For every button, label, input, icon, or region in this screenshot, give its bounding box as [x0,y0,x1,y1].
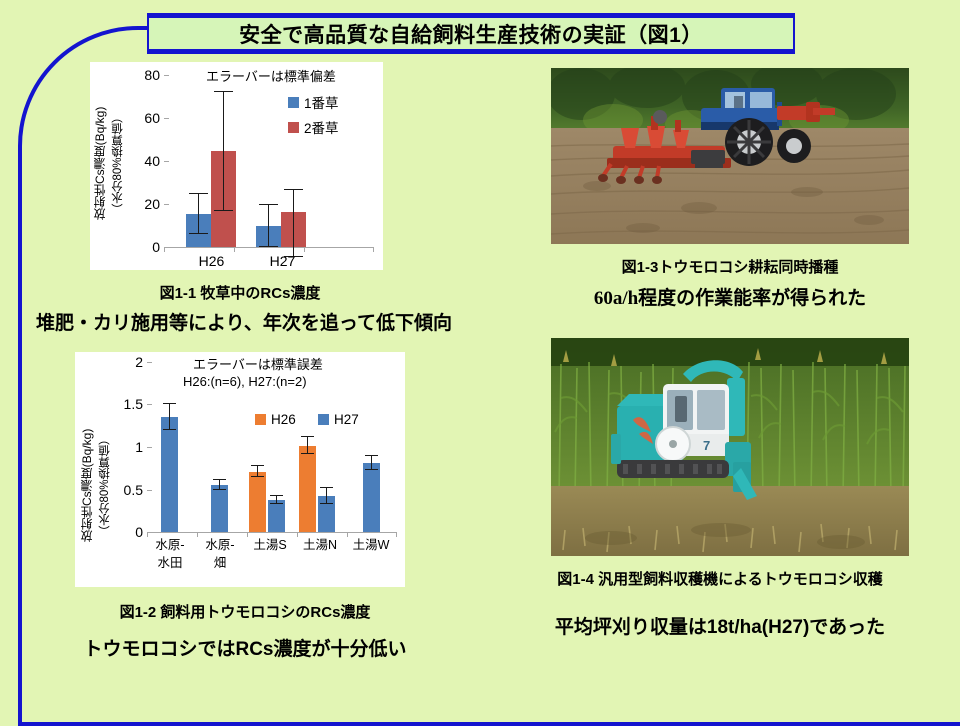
chart1-ytick-0: 0 [128,239,160,255]
chart2-errcap-top [270,495,283,496]
slide-canvas: 安全で高品質な自給飼料生産技術の実証（図1） 放射性Cs濃度(Bq/kg) （水… [0,0,960,694]
chart2-ylabel: 放射性Cs濃度(Bq/kg) [81,400,94,570]
chart2-xlabel-1a: 水原- [195,538,245,552]
forage-harvester-illustration: 7 [551,338,909,556]
chart1-errcap-top [259,204,278,205]
chart2-xlabel-3: 土湯N [295,538,345,552]
chart2-errcap-top [251,465,264,466]
chart1-legend-label-2: 2番草 [304,117,339,137]
chart1-tick-40 [164,161,169,162]
chart1-err-h26-1 [198,194,199,234]
chart2-bar-tsuchiyu-s-h27 [268,500,285,532]
legend-swatch-icon [318,414,329,425]
chart1-errcap-top [284,189,303,190]
chart2-legend-label-2: H27 [334,412,359,427]
chart-fig1-2: 放射性Cs濃度(Bq/kg) （水分80%換算値） 2 1.5 1 0.5 0 … [75,352,405,587]
chart2-bar-tsuchiyu-w-h27 [363,463,380,532]
fig1-4-caption: 図1-4 汎用型飼料収穫機によるトウモロコシ収穫 [500,568,940,589]
chart2-ytick-1: 1 [113,439,143,455]
legend-swatch-icon [255,414,266,425]
chart1-ytick-60: 60 [128,110,160,126]
chart1-err-h27-2 [293,190,294,257]
fig1-1-finding: 堆肥・カリ施用等により、年次を追って低下傾向 [14,308,474,335]
chart1-xlabel-h27: H27 [245,253,320,269]
fig1-4-photo: 7 [551,338,909,556]
chart2-bar-tsuchiyu-s-h26 [249,472,266,532]
chart1-errcap-top [189,193,208,194]
page-title: 安全で高品質な自給飼料生産技術の実証（図1） [147,13,795,54]
chart2-errcap-top [320,487,333,488]
chart-fig1-1: 放射性Cs濃度(Bq/kg) （水分80%換算値） 80 60 40 20 0 … [90,62,383,270]
chart2-bar-tsuchiyu-n-h26 [299,446,316,532]
page-title-text: 安全で高品質な自給飼料生産技術の実証（図1） [239,19,703,49]
chart2-errcap-bot [163,429,176,430]
chart2-annotation2: H26:(n=6), H27:(n=2) [183,374,307,389]
chart2-legend-h27: H27 [318,412,359,427]
chart1-tick-20 [164,204,169,205]
chart2-tick-2 [147,362,152,363]
chart1-errcap-bot [214,210,233,211]
chart2-tick-1 [147,447,152,448]
chart1-ytick-20: 20 [128,196,160,212]
chart1-err-h26-2 [223,92,224,211]
chart2-errcap-bot [270,503,283,504]
chart2-errcap-top [213,479,226,480]
chart1-ytick-80: 80 [128,67,160,83]
chart2-annotation: エラーバーは標準誤差 [193,354,323,373]
chart2-errcap-top [365,455,378,456]
chart2-xtick-2 [247,532,248,537]
chart2-ytick-2: 2 [113,354,143,370]
chart2-ytick-1.5: 1.5 [113,396,143,412]
fig1-2-caption: 図1-2 飼料用トウモロコシのRCs濃度 [50,601,440,622]
tractor-seeder-illustration [551,68,909,244]
chart1-legend-series1: 1番草 [288,92,339,112]
chart1-xtick-1 [234,247,235,252]
chart1-ytick-40: 40 [128,153,160,169]
legend-swatch-icon [288,97,299,108]
chart2-errcap-bot [301,453,314,454]
chart2-err [307,437,308,454]
fig1-3-photo [551,68,909,244]
chart1-tick-80 [164,75,169,76]
chart2-errcap-bot [251,476,264,477]
fig1-3-finding: 60a/h程度の作業能率が得られた [530,283,930,310]
chart2-ytick-0: 0 [113,524,143,540]
chart1-xlabel-h26: H26 [174,253,249,269]
chart2-errcap-top [301,436,314,437]
legend-swatch-icon [288,122,299,133]
chart1-xtick-0 [164,247,165,252]
chart1-err-h27-1 [268,205,269,247]
chart2-xtick-3 [297,532,298,537]
fig1-3-caption: 図1-3トウモロコシ耕耘同時播種 [540,256,920,277]
chart1-xtick-2 [304,247,305,252]
chart1-ylabel: 放射性Cs濃度(Bq/kg) [94,76,107,251]
chart2-bar-suibara-paddy-h27 [161,417,178,532]
svg-text:7: 7 [703,438,710,453]
chart1-errcap-bot [189,233,208,234]
chart2-xtick-1 [197,532,198,537]
chart2-x-axis [147,532,397,533]
chart1-errcap-top [214,91,233,92]
chart2-tick-0.5 [147,490,152,491]
chart2-bar-suibara-field-h27 [211,485,228,532]
chart2-xtick-5 [396,532,397,537]
chart1-tick-60 [164,118,169,119]
chart2-err [326,488,327,504]
chart1-xtick-3 [373,247,374,252]
chart2-xtick-0 [147,532,148,537]
chart2-xlabel-2: 土湯S [245,538,295,552]
chart2-errcap-bot [365,469,378,470]
fig1-4-finding: 平均坪刈り収量は18t/ha(H27)であった [505,612,935,639]
chart2-xlabel-0a: 水原- [145,538,195,552]
chart1-x-axis [164,247,374,248]
chart2-errcap-bot [213,489,226,490]
chart2-err [371,456,372,470]
chart2-legend-h26: H26 [255,412,296,427]
chart2-legend-label-1: H26 [271,412,296,427]
chart2-tick-1.5 [147,404,152,405]
chart1-legend-series2: 2番草 [288,117,339,137]
chart2-xtick-4 [347,532,348,537]
fig1-2-finding: トウモロコシではRCs濃度が十分低い [45,634,445,661]
chart1-legend-label-1: 1番草 [304,92,339,112]
chart1-errcap-bot [259,246,278,247]
chart1-ylabel2: （水分80%換算値） [112,76,125,251]
chart2-xlabel-0b: 水田 [145,556,195,570]
chart2-ytick-0.5: 0.5 [113,482,143,498]
chart2-ylabel2: （水分80%換算値） [99,400,112,570]
chart2-err [169,404,170,430]
chart2-errcap-top [163,403,176,404]
chart2-xlabel-1b: 畑 [195,556,245,570]
fig1-1-caption: 図1-1 牧草中のRCs濃度 [60,282,420,303]
chart2-xlabel-4: 土湯W [345,538,397,552]
chart2-errcap-bot [320,503,333,504]
chart1-annotation: エラーバーは標準偏差 [206,66,336,85]
